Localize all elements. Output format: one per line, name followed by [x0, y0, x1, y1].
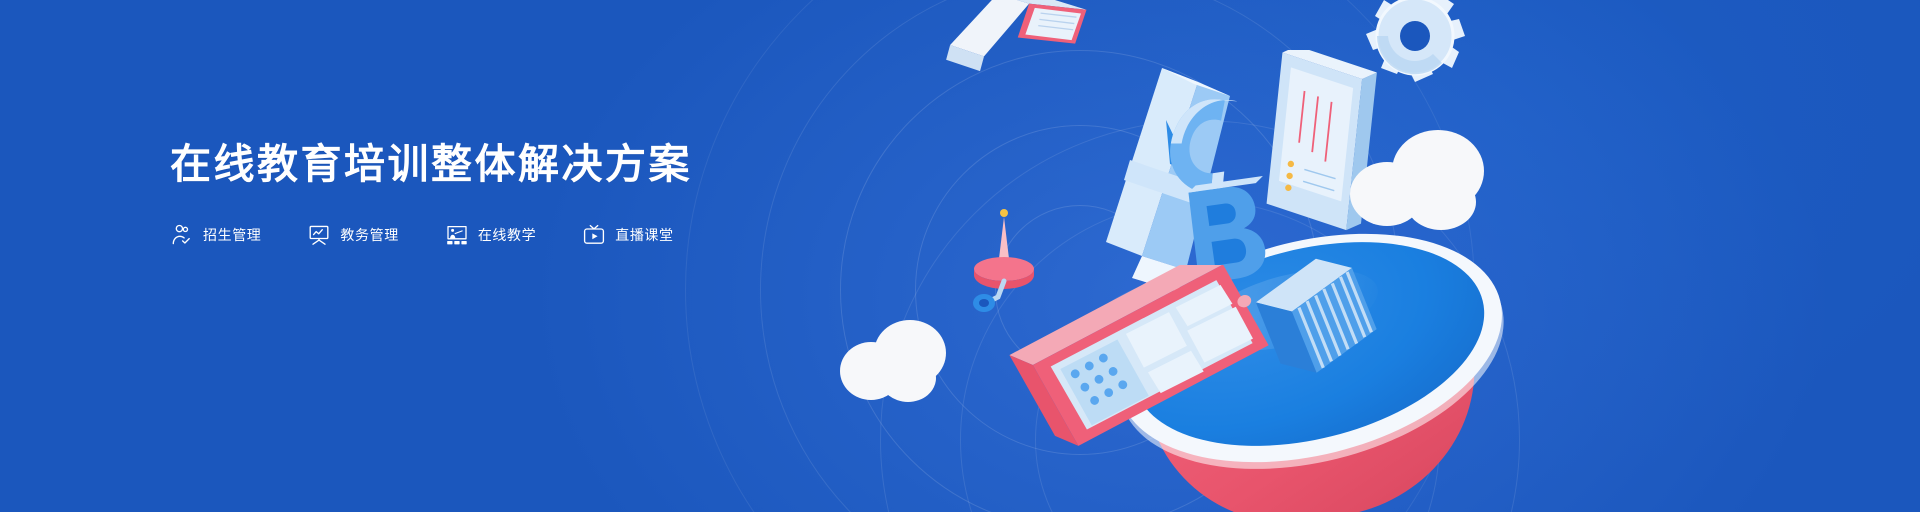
page-title: 在线教育培训整体解决方案 — [170, 140, 890, 188]
feature-list: 招生管理 教务管理 — [170, 223, 890, 247]
feature-item-enrollment[interactable]: 招生管理 — [170, 223, 261, 247]
feature-item-online-teaching[interactable]: 在线教学 — [445, 223, 536, 247]
spinning-top — [960, 205, 1040, 315]
feature-label: 教务管理 — [340, 225, 398, 245]
hero-illustration — [820, 0, 1920, 512]
feature-item-live-classroom[interactable]: 直播课堂 — [582, 223, 673, 247]
feature-item-academic-affairs[interactable]: 教务管理 — [307, 223, 398, 247]
banner-text-block: 在线教育培训整体解决方案 招生管理 — [170, 140, 890, 247]
open-book — [940, 0, 1120, 108]
user-group-icon — [170, 223, 194, 247]
feature-label: 在线教学 — [478, 225, 536, 245]
feature-label: 招生管理 — [203, 225, 261, 245]
feature-label: 直播课堂 — [615, 225, 673, 245]
classroom-teacher-icon — [445, 223, 469, 247]
presentation-chart-icon — [307, 223, 331, 247]
gear-icon — [1350, 0, 1470, 98]
education-banner: 在线教育培训整体解决方案 招生管理 — [0, 0, 1920, 512]
cloud-right — [1350, 130, 1490, 230]
tv-play-icon — [582, 223, 606, 247]
cloud-left — [840, 320, 950, 400]
